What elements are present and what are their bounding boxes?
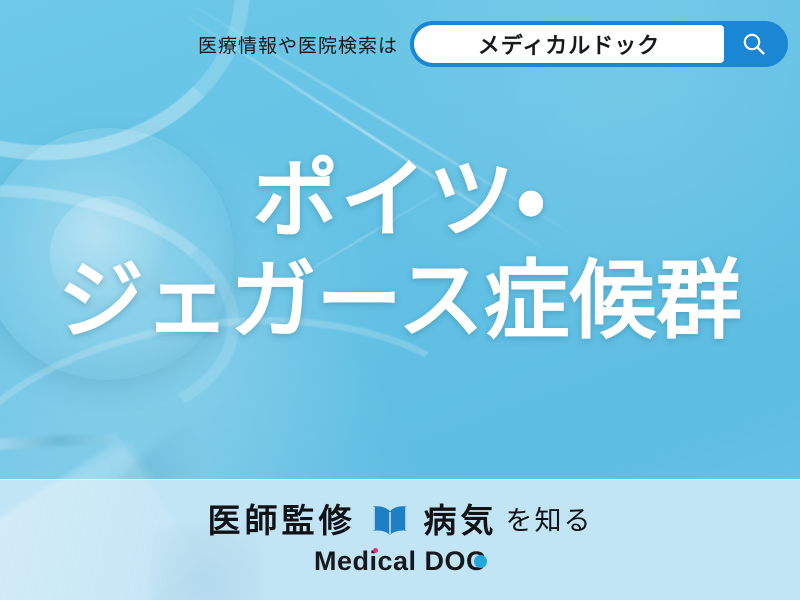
brand-logo-text: Medical DOC [314,546,486,577]
footer-tagline: 医師監修 病気 を知る [208,494,593,542]
site-header: 医療情報や医院検索は [0,0,800,88]
tagline-to-know: を知る [506,499,593,538]
search-submit-button[interactable] [724,25,784,63]
footer-content: 医師監修 病気 を知る Medical DOC [0,480,800,600]
stethoscope-ear-rod-3 [257,182,455,302]
search-input[interactable] [414,25,724,63]
open-book-icon [370,504,410,536]
tagline-illness: 病気 [424,494,498,542]
brand-dot-i-accent [373,548,378,553]
stethoscope-chestpiece-icon [0,128,234,380]
search-bar[interactable] [410,21,788,67]
syringe-icon [0,433,118,451]
brand-dot-o-accent [474,555,487,568]
brand-logo: Medical DOC [314,546,486,577]
page-canvas: 医療情報や医院検索は ポイツ・ ジェガース症候群 医師監修 [0,0,800,600]
footer-band: 医師監修 病気 を知る Medical DOC [0,479,800,600]
search-icon [741,31,767,57]
tagline-doctor-supervised: 医師監修 [208,494,356,542]
search-lead-label: 医療情報や医院検索は [198,31,398,58]
